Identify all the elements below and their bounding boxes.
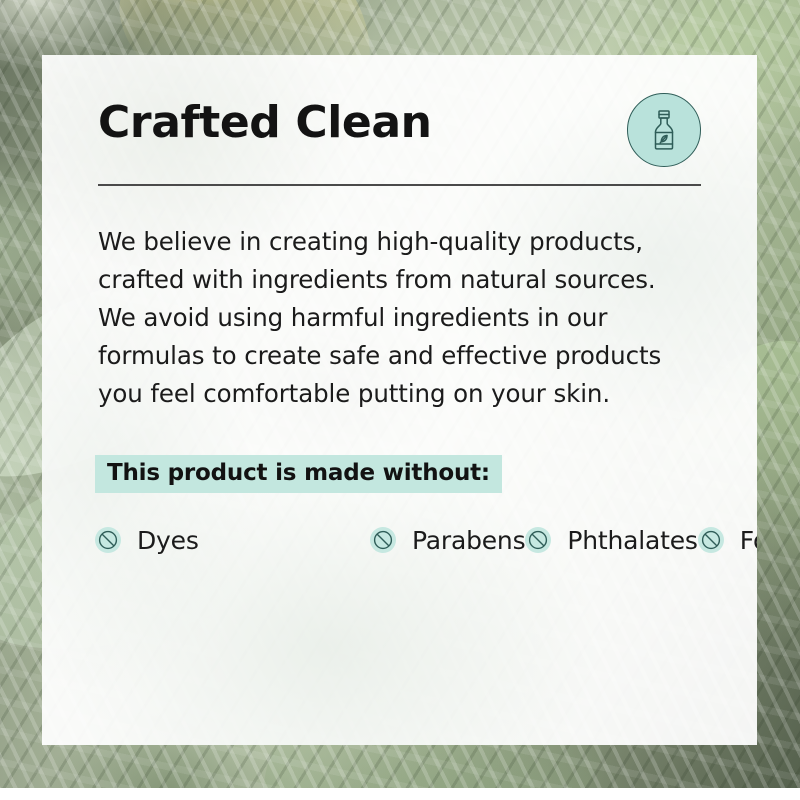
- card-header: Crafted Clean: [98, 93, 701, 193]
- list-item-label: Formaldehyde: [740, 528, 757, 553]
- product-claim-graphic: Crafted Clean: [0, 0, 800, 800]
- body-paragraph: We believe in creating high-quality prod…: [98, 223, 727, 413]
- header-divider: [98, 184, 701, 186]
- list-item: Formaldehyde: [698, 514, 757, 566]
- list-item-label: Parabens: [412, 528, 525, 553]
- page-title: Crafted Clean: [98, 101, 432, 145]
- list-item-label: Phthalates: [567, 528, 697, 553]
- prohibited-icon: [370, 527, 396, 553]
- list-item-label: Dyes: [137, 528, 199, 553]
- exclusions-list: Dyes Parabens: [95, 514, 717, 566]
- prohibited-icon: [525, 527, 551, 553]
- subheading-container: This product is made without:: [95, 455, 502, 493]
- prohibited-icon: [698, 527, 724, 553]
- list-item: Parabens: [370, 514, 525, 566]
- bottle-with-leaf-icon: [627, 93, 701, 167]
- made-without-subheading: This product is made without:: [95, 455, 502, 493]
- prohibited-icon: [95, 527, 121, 553]
- content-card: Crafted Clean: [42, 55, 757, 745]
- bottom-white-strip: [0, 788, 800, 800]
- list-item: Phthalates: [525, 514, 697, 566]
- list-item: Dyes: [95, 514, 370, 566]
